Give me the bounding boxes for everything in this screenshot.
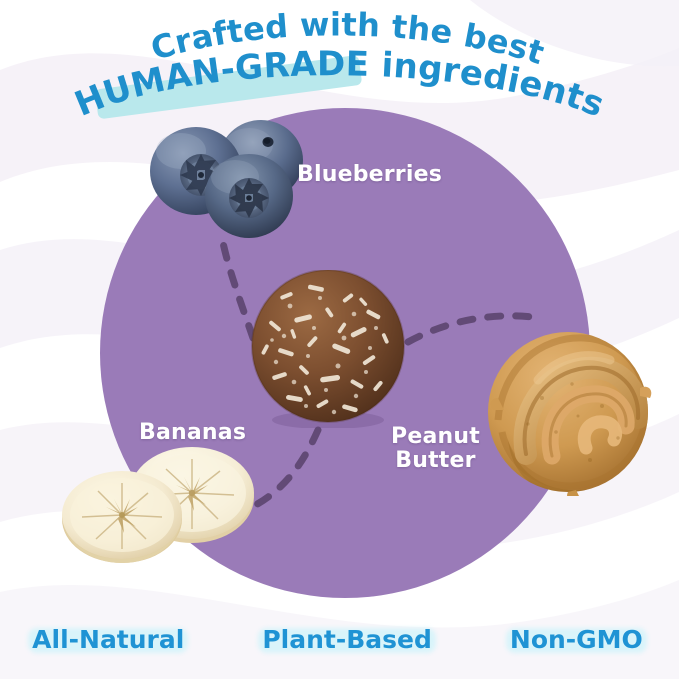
banana-slices-image — [58, 443, 263, 565]
label-bananas: Bananas — [139, 421, 246, 445]
label-peanut-butter-line1: Peanut — [391, 425, 480, 449]
peanut-butter-swirl-image — [482, 328, 657, 496]
blueberries-image — [145, 113, 320, 248]
label-blueberries: Blueberries — [297, 163, 442, 187]
label-peanut-butter: Peanut Butter — [391, 425, 480, 473]
claims-row: All-Natural Plant-Based Non-GMO — [0, 608, 679, 670]
badge-non-gmo-label: Non-GMO — [510, 625, 643, 654]
energy-ball-image — [250, 270, 410, 428]
badge-plant-based: Plant-Based — [256, 622, 438, 657]
infographic-canvas: Blueberries Bananas Peanut Butter Crafte… — [0, 0, 679, 679]
label-peanut-butter-line2: Butter — [391, 449, 480, 473]
badge-plant-based-label: Plant-Based — [262, 625, 432, 654]
badge-non-gmo: Non-GMO — [504, 622, 649, 657]
badge-all-natural-label: All-Natural — [32, 625, 184, 654]
badge-all-natural: All-Natural — [26, 622, 190, 657]
connector-to-blueberries — [222, 238, 253, 338]
